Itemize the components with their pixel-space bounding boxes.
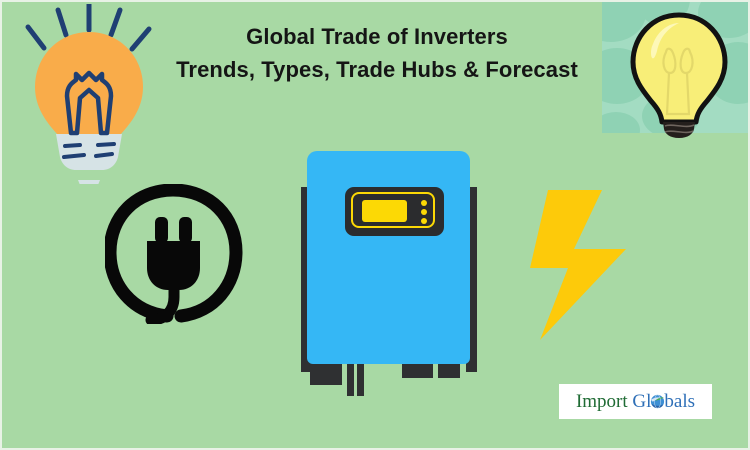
infographic-banner: Global Trade of Inverters Trends, Types,…	[0, 0, 750, 450]
bulb-base	[56, 134, 122, 170]
logo-word-bals: bals	[664, 391, 695, 412]
logo-word-gl: Gl	[632, 391, 651, 412]
display-screen	[362, 200, 407, 222]
bulb-base-tip	[78, 180, 100, 184]
plug-pin-right	[179, 217, 192, 243]
power-plug-icon	[105, 184, 250, 324]
inverter-body	[307, 151, 470, 364]
yellow-light-bulb-icon	[620, 10, 738, 140]
logo-wordmark: Import Glbals	[576, 392, 695, 411]
bolt-shape	[530, 190, 626, 340]
inverter-display-panel	[345, 187, 444, 236]
lightning-bolt-icon	[530, 190, 635, 340]
bulb-screw-base	[663, 122, 695, 138]
status-indicator-led	[421, 200, 427, 206]
status-indicator-led	[421, 218, 427, 224]
solar-inverter-device	[298, 142, 480, 385]
plug-cord	[151, 284, 174, 320]
bulb-glass	[633, 15, 725, 122]
plug-pin-left	[155, 217, 168, 243]
inverter-foot	[357, 361, 364, 396]
status-indicator-led	[421, 209, 427, 215]
logo-word-import: Import	[576, 391, 628, 412]
brand-logo[interactable]: Import Glbals	[559, 384, 712, 419]
inverter-foot	[347, 361, 354, 396]
inverter-foot	[310, 361, 342, 385]
